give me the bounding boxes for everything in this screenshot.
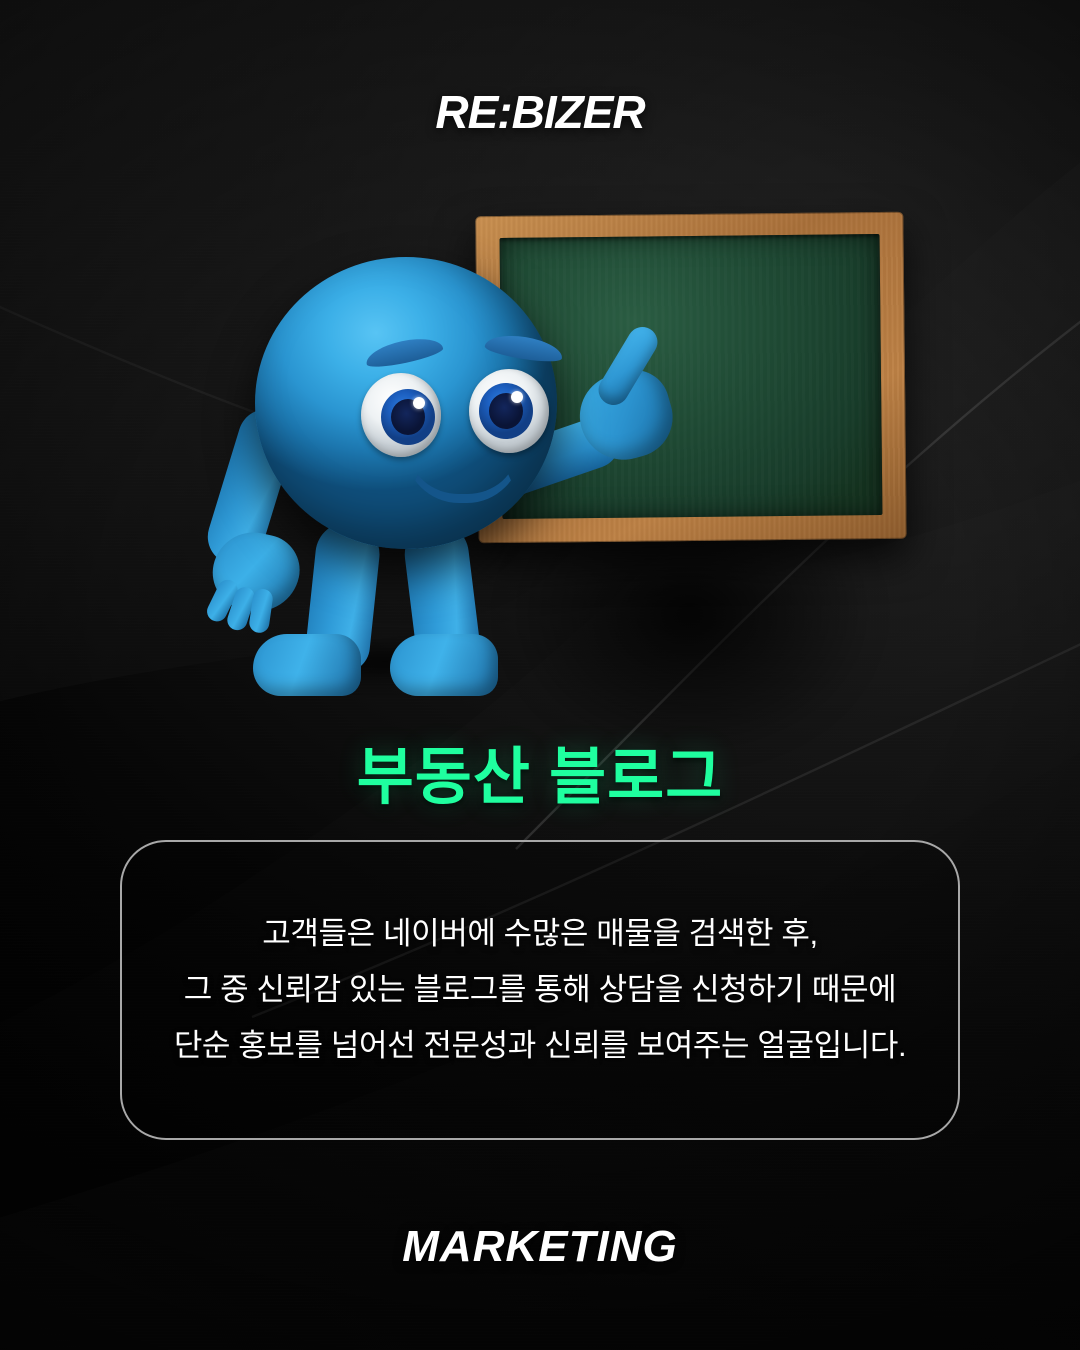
promo-card: RE:BIZER — [0, 0, 1080, 1350]
footer-label: MARKETING — [0, 1222, 1080, 1272]
message-line: 고객들은 네이버에 수많은 매물을 검색한 후, — [262, 906, 817, 962]
mascot-smile — [405, 449, 521, 503]
mascot-left-eyebrow — [364, 333, 445, 371]
mascot-right-iris — [479, 383, 533, 439]
mascot-left-eye-glint — [413, 397, 425, 409]
page-title: 부동산 블로그 — [0, 726, 1080, 816]
mascot-right-eyebrow — [484, 331, 564, 365]
message-box: 고객들은 네이버에 수많은 매물을 검색한 후, 그 중 신뢰감 있는 블로그를… — [120, 840, 960, 1140]
mascot-left-iris — [381, 389, 435, 445]
mascot-right-eye-glint — [511, 391, 523, 403]
message-line: 단순 홍보를 넘어선 전문성과 신뢰를 보여주는 얼굴입니다. — [174, 1018, 906, 1074]
hero-illustration — [0, 195, 1080, 685]
message-line: 그 중 신뢰감 있는 블로그를 통해 상담을 신청하기 때문에 — [184, 962, 896, 1018]
mascot-head-body — [255, 257, 557, 549]
mascot-right-eye — [469, 369, 549, 453]
mascot-left-foot — [253, 634, 361, 696]
mascot-left-eye — [361, 373, 441, 457]
mascot-right-foot — [390, 634, 498, 696]
brand-logo: RE:BIZER — [0, 85, 1080, 139]
mascot-character — [195, 245, 615, 690]
